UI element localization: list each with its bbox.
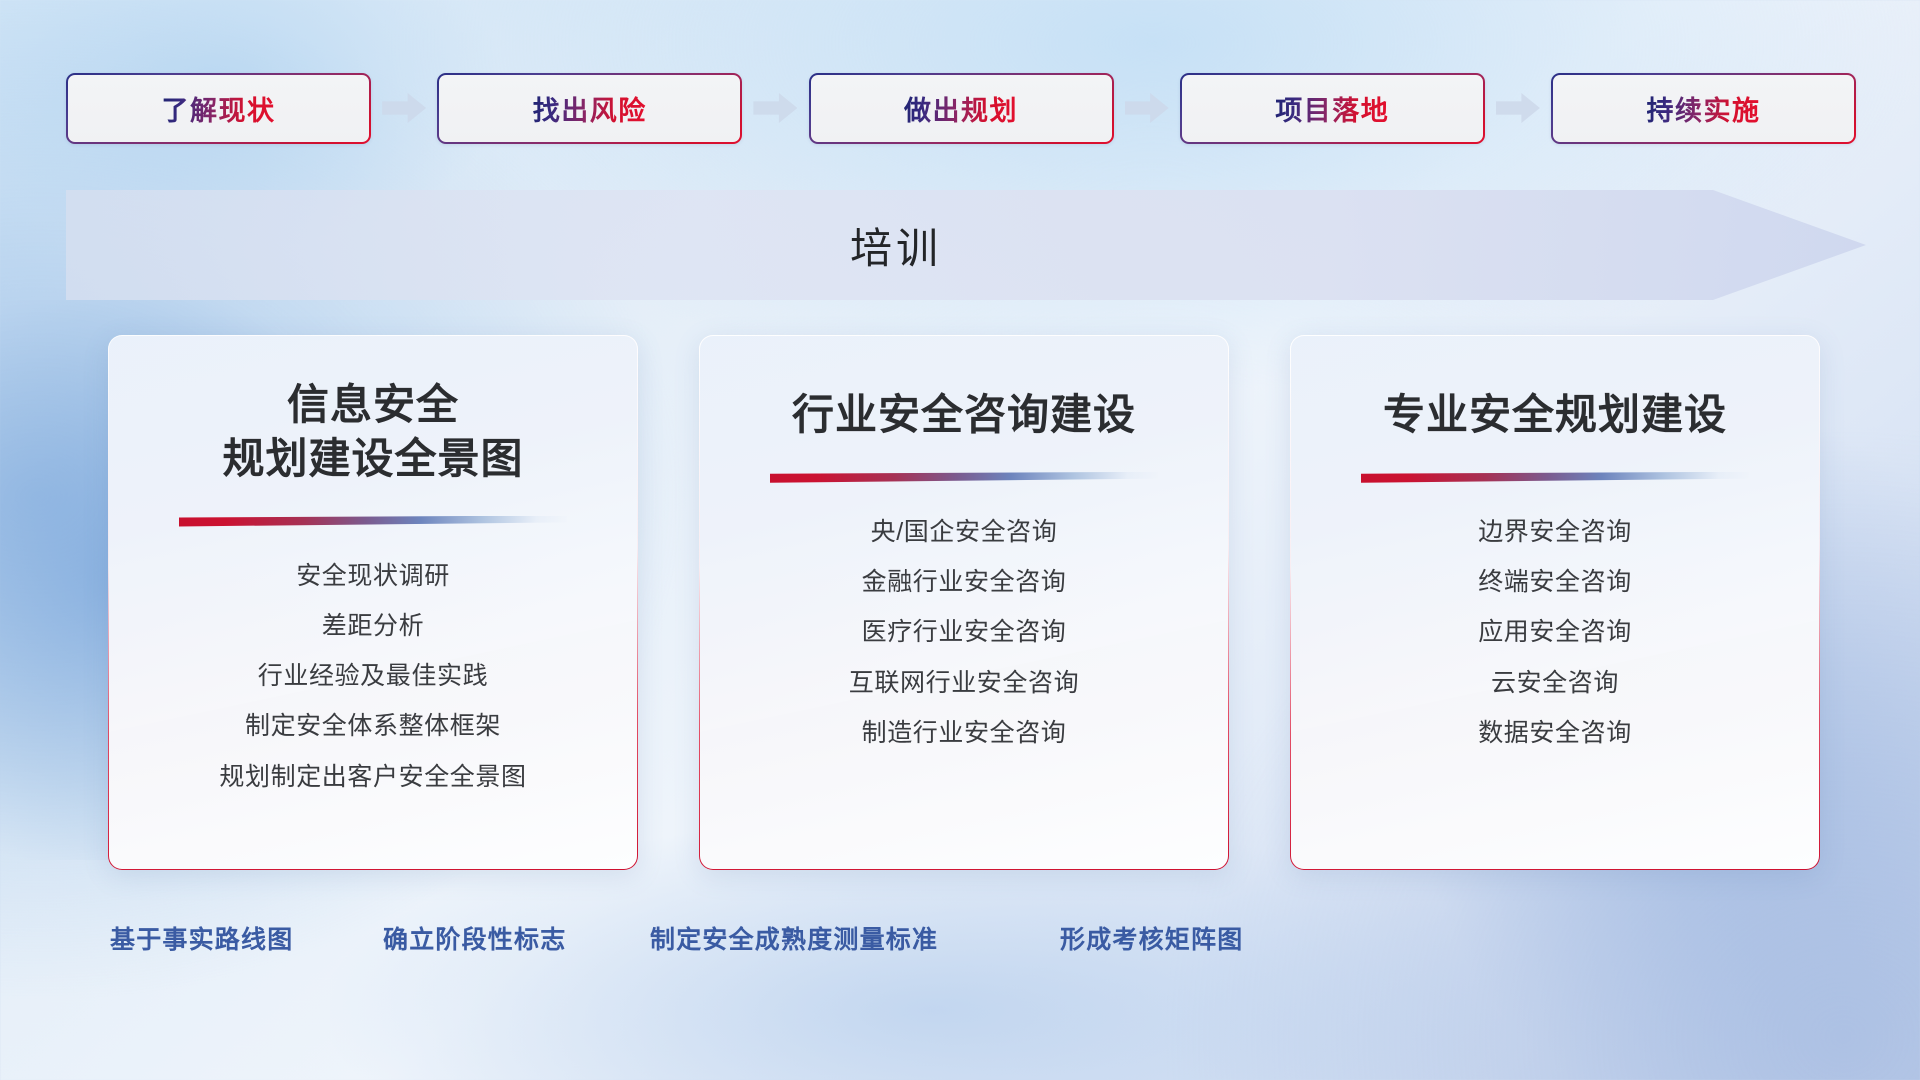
card-2-title-line-1: 行业安全咨询建设: [792, 388, 1136, 442]
card-1-title: 信息安全 规划建设全景图: [222, 378, 523, 486]
footer-caption-2: 确立阶段性标志: [383, 920, 566, 956]
card-2-list: 央/国企安全咨询 金融行业安全咨询 医疗行业安全咨询 互联网行业安全咨询 制造行…: [849, 517, 1079, 749]
process-step-row: 了解现状 找出风险 做出规划 项目落地 持续实施: [66, 72, 1856, 144]
footer-caption-1: 基于事实路线图: [110, 920, 293, 956]
list-item: 终端安全咨询: [1478, 567, 1632, 598]
card-1[interactable]: 信息安全 规划建设全景图 安全现状调研 差距分析 行业经验及最佳实践 制定安全体…: [108, 335, 638, 870]
footer-caption-4: 形成考核矩阵图: [1060, 920, 1243, 956]
card-1-divider: [179, 516, 567, 527]
list-item: 行业经验及最佳实践: [258, 661, 488, 692]
card-3-title: 专业安全规划建设: [1383, 388, 1727, 442]
step-arrow-icon-3: [1125, 93, 1169, 123]
step-wrapper-2: 找出风险: [437, 73, 742, 144]
step-box-3[interactable]: 做出规划: [809, 73, 1114, 144]
step-box-5[interactable]: 持续实施: [1551, 73, 1856, 144]
card-2-divider: [770, 472, 1158, 483]
card-1-title-line-2: 规划建设全景图: [222, 432, 523, 486]
card-3[interactable]: 专业安全规划建设 边界安全咨询 终端安全咨询 应用安全咨询 云安全咨询 数据安全…: [1290, 335, 1820, 870]
card-2[interactable]: 行业安全咨询建设 央/国企安全咨询 金融行业安全咨询 医疗行业安全咨询 互联网行…: [699, 335, 1229, 870]
card-3-title-line-1: 专业安全规划建设: [1383, 388, 1727, 442]
step-box-4[interactable]: 项目落地: [1180, 73, 1485, 144]
list-item: 制造行业安全咨询: [862, 718, 1067, 749]
list-item: 规划制定出客户安全全景图: [219, 762, 526, 793]
list-item: 医疗行业安全咨询: [862, 617, 1067, 648]
card-3-divider: [1361, 472, 1749, 483]
list-item: 应用安全咨询: [1478, 617, 1632, 648]
step-arrow-icon-1: [382, 93, 426, 123]
list-item: 差距分析: [322, 611, 424, 642]
card-2-title: 行业安全咨询建设: [792, 388, 1136, 442]
training-banner: 培训: [66, 190, 1866, 300]
list-item: 互联网行业安全咨询: [849, 668, 1079, 699]
card-1-title-line-1: 信息安全: [222, 378, 523, 432]
footer-caption-row: 基于事实路线图 确立阶段性标志 制定安全成熟度测量标准 形成考核矩阵图: [0, 920, 1920, 966]
list-item: 边界安全咨询: [1478, 517, 1632, 548]
list-item: 金融行业安全咨询: [862, 567, 1067, 598]
step-wrapper-3: 做出规划: [809, 73, 1114, 144]
list-item: 云安全咨询: [1491, 668, 1619, 699]
card-3-list: 边界安全咨询 终端安全咨询 应用安全咨询 云安全咨询 数据安全咨询: [1478, 517, 1632, 749]
footer-caption-3: 制定安全成熟度测量标准: [650, 920, 938, 956]
step-label-4: 项目落地: [1275, 89, 1389, 128]
step-box-1[interactable]: 了解现状: [66, 73, 371, 144]
step-arrow-icon-2: [753, 93, 797, 123]
step-label-1: 了解现状: [162, 89, 276, 128]
list-item: 数据安全咨询: [1478, 718, 1632, 749]
list-item: 央/国企安全咨询: [871, 517, 1058, 548]
step-label-5: 持续实施: [1647, 89, 1761, 128]
step-wrapper-5: 持续实施: [1551, 73, 1856, 144]
step-wrapper-4: 项目落地: [1180, 73, 1485, 144]
step-arrow-icon-4: [1496, 93, 1540, 123]
step-wrapper-1: 了解现状: [66, 73, 371, 144]
list-item: 安全现状调研: [296, 561, 450, 592]
banner-label: 培训: [66, 190, 1866, 300]
step-box-2[interactable]: 找出风险: [437, 73, 742, 144]
step-label-3: 做出规划: [904, 89, 1018, 128]
step-label-2: 找出风险: [533, 89, 647, 128]
list-item: 制定安全体系整体框架: [245, 711, 501, 742]
card-row: 信息安全 规划建设全景图 安全现状调研 差距分析 行业经验及最佳实践 制定安全体…: [108, 335, 1820, 870]
card-1-list: 安全现状调研 差距分析 行业经验及最佳实践 制定安全体系整体框架 规划制定出客户…: [219, 561, 526, 793]
